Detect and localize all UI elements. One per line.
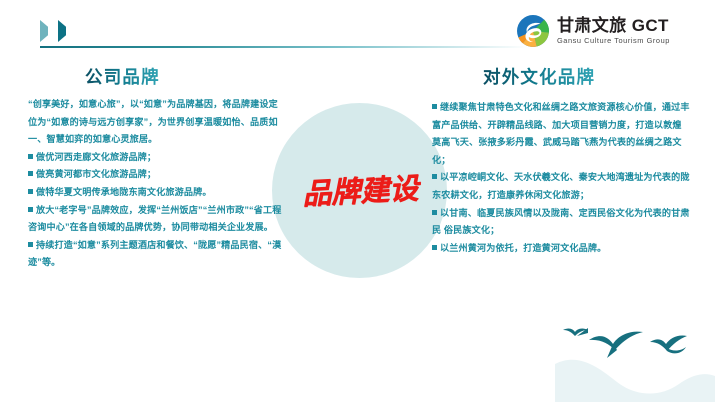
brand-logo: 甘肃文旅 GCT Gansu Culture Tourism Group [516, 14, 670, 48]
logo-subtitle-en: Gansu Culture Tourism Group [557, 37, 670, 44]
left-column-paragraph: 做特华夏文明传承地陇东南文化旅游品牌。 [28, 184, 286, 202]
section-heading-company-brand: 公司品牌 [85, 64, 160, 89]
wave-hill-shape [555, 360, 715, 402]
square-bullet-icon [28, 154, 33, 159]
left-column-text: 做亮黄河都市文化旅游品牌； [36, 169, 156, 179]
square-bullet-icon [28, 242, 33, 247]
square-bullet-icon [432, 104, 437, 109]
left-column-paragraph: 做优河西走廊文化旅游品牌； [28, 149, 286, 167]
left-column-text: 持续打造“如意”系列主题酒店和餐饮、“陇愿”精品民宿、“漠迹”等。 [28, 240, 281, 268]
left-column-paragraph: 做亮黄河都市文化旅游品牌； [28, 166, 286, 184]
right-column-paragraph: 以甘南、临夏民族风情以及陇南、定西民俗文化为代表的甘肃民 俗民族文化； [432, 205, 690, 240]
square-bullet-icon [432, 210, 437, 215]
square-bullet-icon [28, 207, 33, 212]
left-column-paragraph: 放大“老字号”品牌效应，发挥“兰州饭店”“兰州市政”“省工程咨询中心”在各自领域… [28, 202, 286, 237]
left-column-paragraph: 持续打造“如意”系列主题酒店和餐饮、“陇愿”精品民宿、“漠迹”等。 [28, 237, 286, 272]
slide-canvas: 甘肃文旅 GCT Gansu Culture Tourism Group 公司品… [0, 0, 715, 402]
left-column-text: 放大“老字号”品牌效应，发挥“兰州饭店”“兰州市政”“省工程咨询中心”在各自领域… [28, 205, 282, 233]
bird-icon-large-center [589, 332, 643, 350]
left-column-text: 做特华夏文明传承地陇东南文化旅游品牌。 [36, 187, 212, 197]
square-bullet-icon [28, 171, 33, 176]
right-column-text: 以兰州黄河为依托，打造黄河文化品牌。 [440, 243, 606, 253]
logo-text-block: 甘肃文旅 GCT Gansu Culture Tourism Group [557, 17, 670, 44]
right-column-paragraph: 以平凉崆峒文化、天水伏羲文化、秦安大地湾遗址为代表的陇东农耕文化，打造康养休闲文… [432, 169, 690, 204]
right-column-paragraph: 继续聚焦甘肃特色文化和丝绸之路文旅资源核心价值，通过丰富产品供给、开辟精品线路、… [432, 99, 690, 169]
center-calligraphy-label: 品牌建设 [284, 164, 436, 214]
double-chevron-right-icon [40, 20, 86, 42]
gct-emblem-icon [516, 14, 550, 48]
left-column-paragraph: “创享美好，如意心旅”，以“如意”为品牌基因，将品牌建设定位为“如意的诗与远方创… [28, 96, 286, 149]
chevron-shape-inner-cut [66, 20, 79, 42]
bird-icon-right-wing [667, 347, 686, 353]
left-column-text: “创享美好，如意心旅”，以“如意”为品牌基因，将品牌建设定位为“如意的诗与远方创… [28, 99, 278, 144]
square-bullet-icon [432, 245, 437, 250]
left-text-column: “创享美好，如意心旅”，以“如意”为品牌基因，将品牌建设定位为“如意的诗与远方创… [28, 96, 286, 272]
right-column-text: 以甘南、临夏民族风情以及陇南、定西民俗文化为代表的甘肃民 俗民族文化； [432, 208, 690, 236]
logo-title-cn: 甘肃文旅 GCT [557, 17, 670, 34]
header-divider [40, 46, 528, 48]
right-text-column: 继续聚焦甘肃特色文化和丝绸之路文旅资源核心价值，通过丰富产品供给、开辟精品线路、… [432, 99, 690, 257]
right-column-text: 以平凉崆峒文化、天水伏羲文化、秦安大地湾遗址为代表的陇东农耕文化，打造康养休闲文… [432, 172, 690, 200]
right-column-paragraph: 以兰州黄河为依托，打造黄河文化品牌。 [432, 240, 690, 258]
section-heading-external-culture-brand: 对外文化品牌 [483, 64, 595, 89]
bird-icon-right [650, 335, 687, 351]
left-column-text: 做优河西走廊文化旅游品牌； [36, 152, 156, 162]
right-column-text: 继续聚焦甘肃特色文化和丝绸之路文旅资源核心价值，通过丰富产品供给、开辟精品线路、… [432, 102, 690, 165]
flying-birds-decoration [555, 306, 715, 402]
square-bullet-icon [28, 189, 33, 194]
square-bullet-icon [432, 174, 437, 179]
